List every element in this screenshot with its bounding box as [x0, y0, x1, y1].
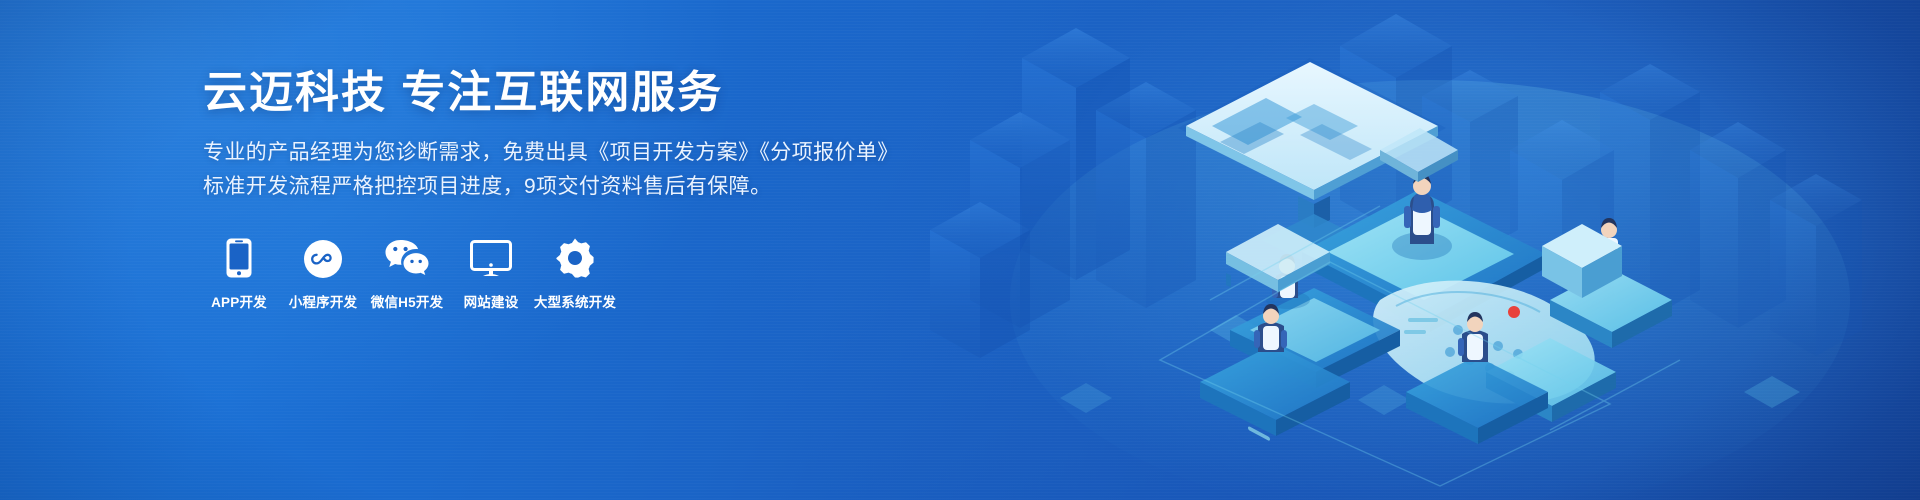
monitor-icon [470, 234, 512, 278]
service-label: APP开发 [211, 291, 267, 311]
phone-icon [226, 234, 252, 278]
banner-content: 云迈科技 专注互联网服务 专业的产品经理为您诊断需求，免费出具《项目开发方案》《… [203, 66, 903, 311]
service-item-app[interactable]: APP开发 [203, 234, 275, 311]
service-item-system[interactable]: 大型系统开发 [539, 234, 611, 311]
banner-subtitle-line-2: 标准开发流程严格把控项目进度，9项交付资料售后有保障。 [203, 170, 903, 204]
banner-subtitle-line-1: 专业的产品经理为您诊断需求，免费出具《项目开发方案》《分项报价单》 [203, 136, 903, 170]
hero-illustration [910, 0, 1920, 500]
miniprogram-icon [304, 234, 342, 278]
service-label: 小程序开发 [289, 291, 358, 311]
promo-banner: 云迈科技 专注互联网服务 专业的产品经理为您诊断需求，免费出具《项目开发方案》《… [0, 0, 1920, 500]
gear-icon [555, 234, 595, 278]
service-label: 大型系统开发 [534, 291, 616, 311]
service-label: 微信H5开发 [371, 291, 443, 311]
service-item-miniprogram[interactable]: 小程序开发 [287, 234, 359, 311]
wechat-icon [384, 234, 430, 278]
banner-headline: 云迈科技 专注互联网服务 [203, 66, 903, 120]
service-item-website[interactable]: 网站建设 [455, 234, 527, 311]
service-label: 网站建设 [464, 291, 519, 311]
service-item-wechat[interactable]: 微信H5开发 [371, 234, 443, 311]
service-list: APP开发 小程序开发 [203, 234, 903, 311]
